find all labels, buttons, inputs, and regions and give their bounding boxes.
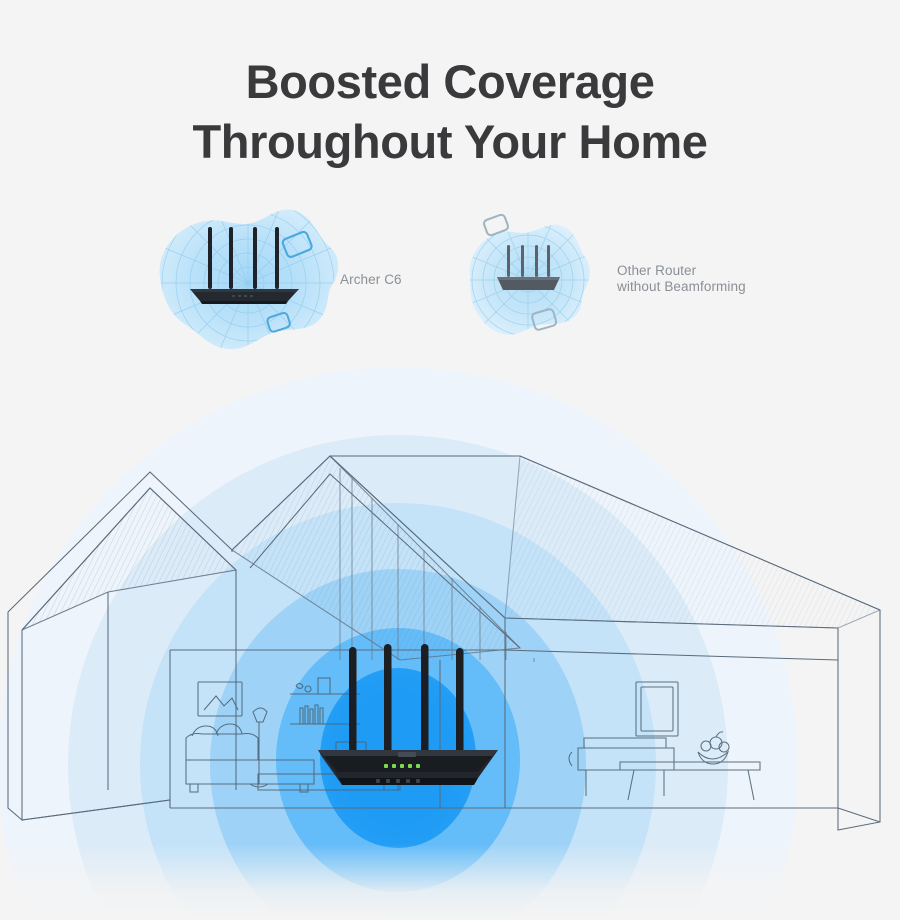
comparison-label-other: Other Router without Beamforming xyxy=(617,263,746,295)
coverage-diagram-archer xyxy=(158,195,338,365)
comparison-label-archer: Archer C6 xyxy=(340,272,402,288)
house-coverage-scene xyxy=(0,360,900,920)
page-title: Boosted Coverage Throughout Your Home xyxy=(0,52,900,172)
poster-canvas: Boosted Coverage Throughout Your Home xyxy=(0,0,900,900)
comparison-diagrams xyxy=(0,195,900,365)
coverage-blob-archer xyxy=(160,210,339,350)
bottom-fade xyxy=(0,720,900,920)
coverage-diagram-other xyxy=(458,210,598,350)
